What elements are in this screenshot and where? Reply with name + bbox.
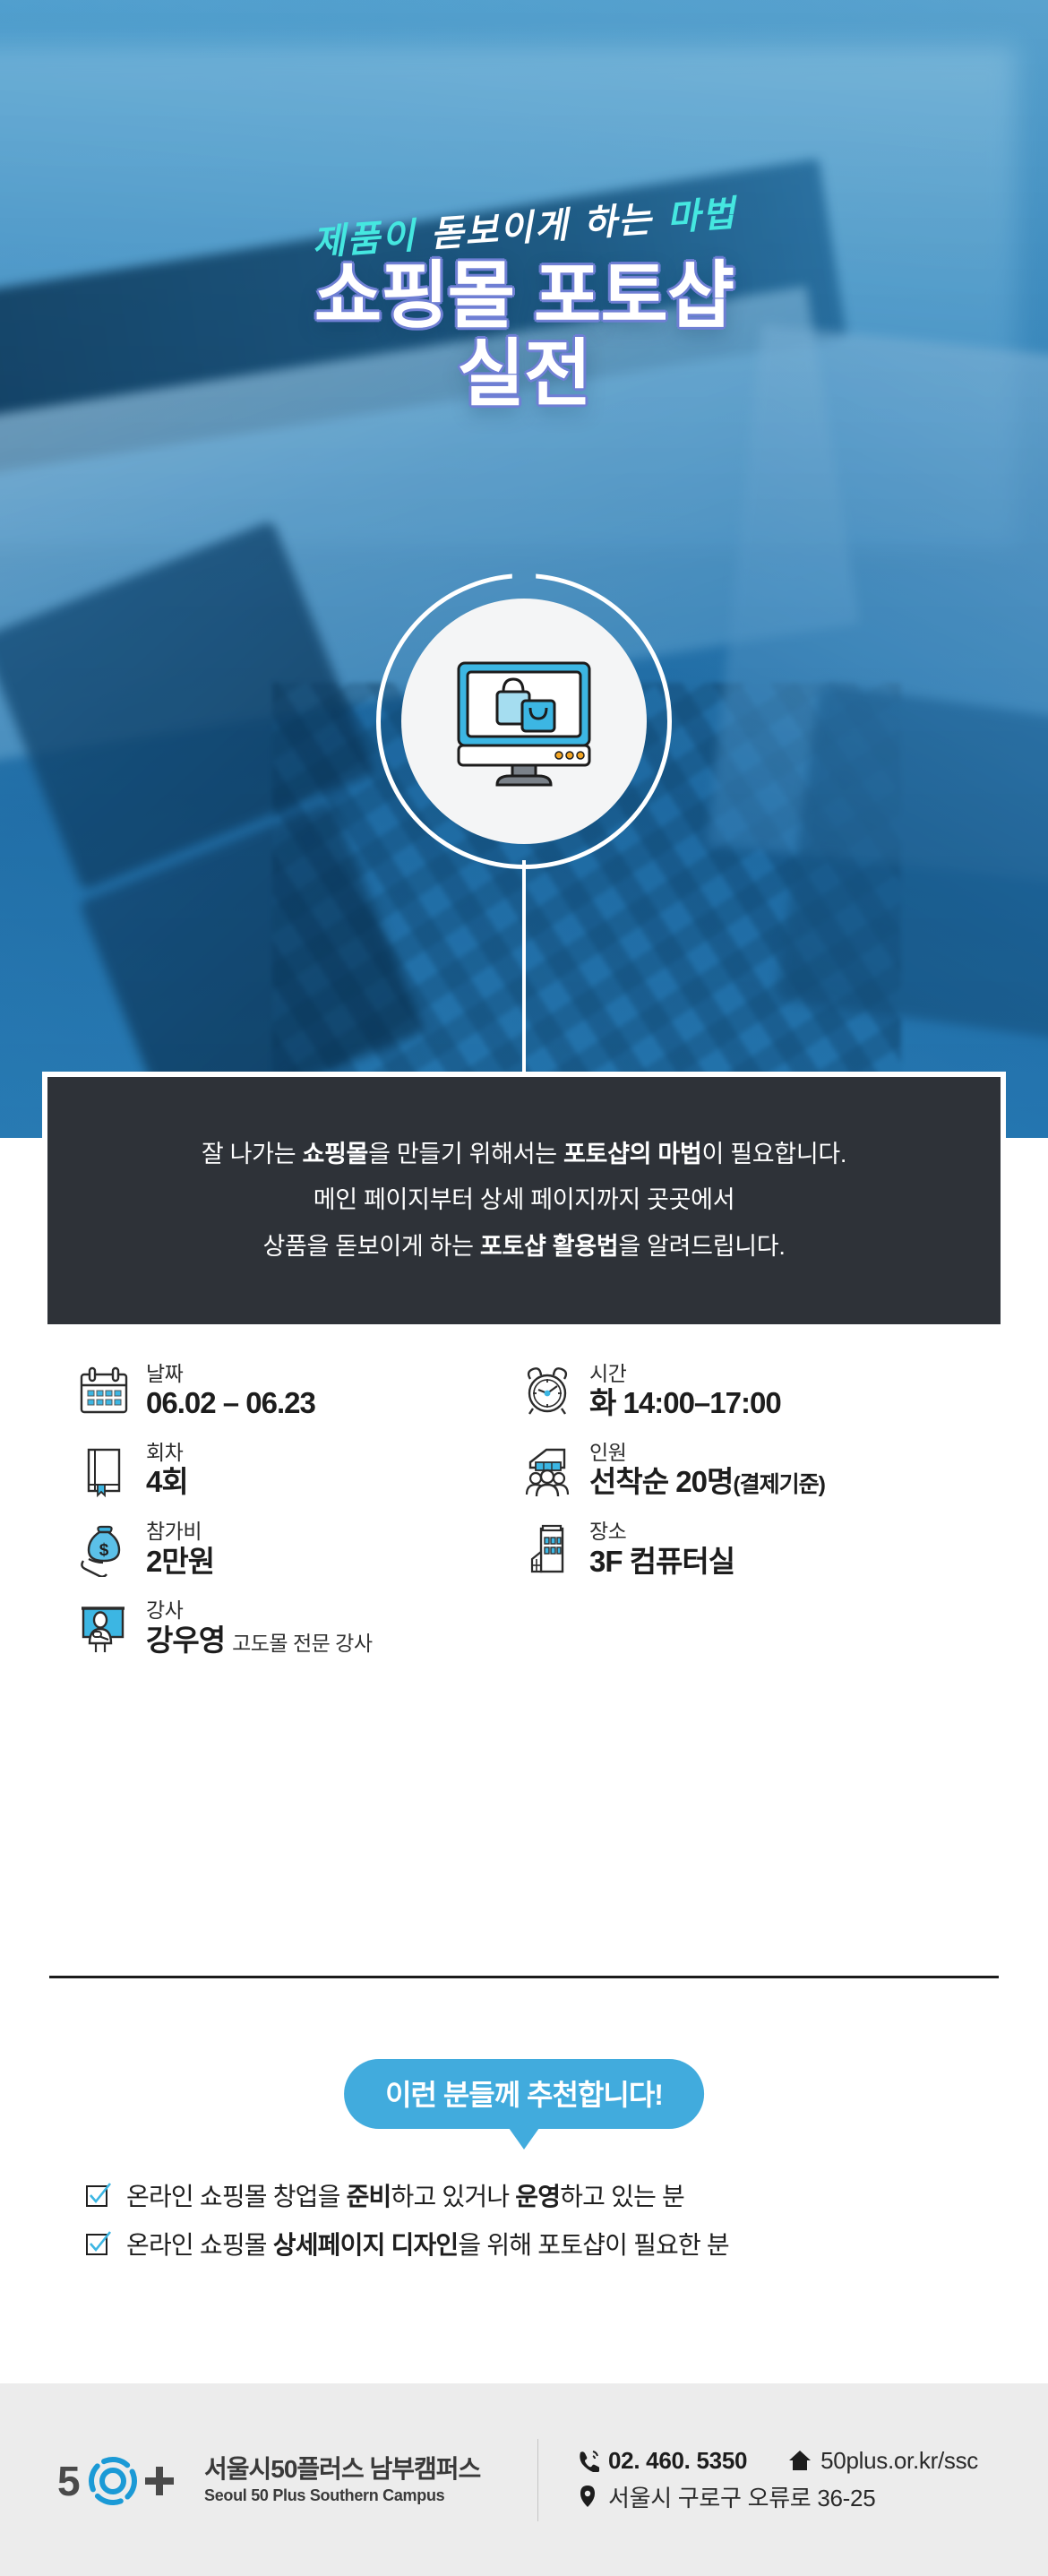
- info-text-sessions: 회차 4회: [146, 1441, 188, 1500]
- list-item: 온라인 쇼핑몰 창업을 준비하고 있거나 운영하고 있는 분: [0, 2177, 1048, 2213]
- book-icon: [76, 1443, 132, 1498]
- campus-name-ko: 서울시50플러스 남부캠퍼스: [204, 2454, 480, 2485]
- list-item-text-2: 온라인 쇼핑몰 상세페이지 디자인을 위해 포토샵이 필요한 분: [126, 2226, 729, 2262]
- desc1-bold-1: 쇼핑몰: [302, 1141, 368, 1167]
- info-text-time: 시간 화 14:00–17:00: [589, 1362, 781, 1421]
- hero-icon-badge: [376, 573, 672, 869]
- footer-logo-block: 5 서울시50플러스 남부캠퍼스 Seoul 50 Plus Southern …: [0, 2449, 537, 2511]
- instructor-name: 강우영: [146, 1624, 225, 1657]
- tagline-part-3: 마법: [666, 193, 738, 238]
- calendar-icon: [76, 1364, 132, 1419]
- campus-name-block: 서울시50플러스 남부캠퍼스 Seoul 50 Plus Southern Ca…: [204, 2454, 480, 2506]
- info-item-time: 시간 화 14:00–17:00: [502, 1362, 1003, 1421]
- info-item-location: 장소 3F 컴퓨터실: [502, 1520, 1003, 1579]
- contact-phone[interactable]: 02. 460. 5350: [608, 2447, 747, 2475]
- info-label-location: 장소: [589, 1520, 734, 1543]
- contact-website[interactable]: 50plus.or.kr/ssc: [820, 2447, 978, 2475]
- info-item-date: 날짜 06.02 – 06.23: [0, 1362, 502, 1421]
- contact-row-primary: 02. 460. 5350 50plus.or.kr/ssc: [576, 2447, 978, 2475]
- info-label-fee: 참가비: [146, 1520, 214, 1543]
- capacity-main: 선착순 20명: [589, 1465, 733, 1498]
- info-item-fee: $ 참가비 2만원: [0, 1520, 502, 1579]
- contact-address: 서울시 구로구 오류로 36-25: [608, 2480, 875, 2513]
- desc3-bold: 포토샵 활용법: [480, 1233, 618, 1260]
- item2-a: 온라인 쇼핑몰: [126, 2231, 273, 2259]
- hero-section: 제품이 돋보이게 하는 마법 쇼핑몰 포토샵 실전: [0, 0, 1048, 1138]
- info-value-fee: 2만원: [146, 1544, 214, 1580]
- money-bag-icon: $: [76, 1521, 132, 1577]
- item1-d: 하고 있는 분: [560, 2183, 684, 2210]
- phone-icon: [576, 2449, 599, 2472]
- description-line-1: 잘 나가는 쇼핑몰을 만들기 위해서는 포토샵의 마법이 필요합니다.: [202, 1132, 846, 1177]
- section-divider: [49, 1976, 999, 1978]
- desc1-c: 을 만들기 위해서는: [368, 1141, 563, 1167]
- desc3-c: 을 알려드립니다.: [618, 1233, 785, 1260]
- svg-text:5: 5: [57, 2458, 81, 2504]
- teacher-icon: [76, 1600, 132, 1656]
- checkbox-checked-icon: [85, 2182, 112, 2209]
- info-value-instructor: 강우영고도몰 전문 강사: [146, 1623, 373, 1658]
- info-text-location: 장소 3F 컴퓨터실: [589, 1520, 734, 1579]
- item2-c: 을 위해 포토샵이 필요한 분: [458, 2231, 728, 2259]
- instructor-title: 고도몰 전문 강사: [232, 1632, 372, 1655]
- recommend-list: 온라인 쇼핑몰 창업을 준비하고 있거나 운영하고 있는 분 온라인 쇼핑몰 상…: [0, 2177, 1048, 2274]
- footer: 5 서울시50플러스 남부캠퍼스 Seoul 50 Plus Southern …: [0, 2383, 1048, 2576]
- info-value-date: 06.02 – 06.23: [146, 1385, 315, 1421]
- item1-c: 하고 있거나: [391, 2183, 516, 2210]
- description-line-3: 상품을 돋보이게 하는 포토샵 활용법을 알려드립니다.: [262, 1224, 785, 1270]
- info-label-capacity: 인원: [589, 1441, 825, 1464]
- info-row-1: 날짜 06.02 – 06.23 시간 화: [0, 1362, 1048, 1421]
- info-label-time: 시간: [589, 1362, 781, 1385]
- info-row-2: 회차 4회 인원 선착순 20명(결제기준): [0, 1441, 1048, 1500]
- desc3-a: 상품을 돋보이게 하는: [262, 1233, 479, 1260]
- monitor-shopping-bag-icon: [448, 654, 600, 788]
- info-item-capacity: 인원 선착순 20명(결제기준): [502, 1441, 1003, 1500]
- footer-contact-block: 02. 460. 5350 50plus.or.kr/ssc 서울시 구로구 오…: [538, 2447, 978, 2513]
- info-text-capacity: 인원 선착순 20명(결제기준): [589, 1441, 825, 1500]
- course-info-grid: 날짜 06.02 – 06.23 시간 화: [0, 1362, 1048, 1677]
- checkbox-checked-icon: [85, 2230, 112, 2257]
- building-icon: [520, 1521, 575, 1577]
- info-value-time: 화 14:00–17:00: [589, 1385, 781, 1421]
- description-line-2: 메인 페이지부터 상세 페이지까지 곳곳에서: [314, 1177, 735, 1223]
- page-title: 쇼핑몰 포토샵 실전: [0, 258, 1048, 414]
- info-text-date: 날짜 06.02 – 06.23: [146, 1362, 315, 1421]
- info-value-capacity: 선착순 20명(결제기준): [589, 1464, 825, 1500]
- desc1-a: 잘 나가는: [202, 1141, 303, 1167]
- info-value-location: 3F 컴퓨터실: [589, 1544, 734, 1580]
- info-item-instructor: 강사 강우영고도몰 전문 강사: [0, 1598, 502, 1658]
- svg-text:$: $: [99, 1541, 109, 1560]
- info-text-instructor: 강사 강우영고도몰 전문 강사: [146, 1598, 373, 1658]
- item1-a: 온라인 쇼핑몰 창업을: [126, 2183, 347, 2210]
- info-value-sessions: 4회: [146, 1464, 188, 1500]
- info-row-3: $ 참가비 2만원: [0, 1520, 1048, 1579]
- info-row-4: 강사 강우영고도몰 전문 강사: [0, 1598, 1048, 1658]
- bubble-tail: [509, 2128, 539, 2150]
- item1-b1: 준비: [347, 2183, 391, 2210]
- title-line-2: 실전: [0, 336, 1048, 414]
- description-box: 잘 나가는 쇼핑몰을 만들기 위해서는 포토샵의 마법이 필요합니다. 메인 페…: [42, 1072, 1006, 1330]
- capacity-note: (결제기준): [733, 1472, 825, 1497]
- audience-icon: [520, 1443, 575, 1498]
- info-item-sessions: 회차 4회: [0, 1441, 502, 1500]
- contact-row-address: 서울시 구로구 오류로 36-25: [576, 2480, 978, 2513]
- info-label-date: 날짜: [146, 1362, 315, 1385]
- map-pin-icon: [576, 2485, 599, 2508]
- list-item-text-1: 온라인 쇼핑몰 창업을 준비하고 있거나 운영하고 있는 분: [126, 2177, 684, 2213]
- recommend-bubble: 이런 분들께 추천합니다!: [344, 2059, 704, 2129]
- info-text-fee: 참가비 2만원: [146, 1520, 214, 1579]
- info-label-sessions: 회차: [146, 1441, 188, 1464]
- item1-b2: 운영: [515, 2183, 560, 2210]
- home-icon: [788, 2449, 812, 2472]
- info-label-instructor: 강사: [146, 1598, 373, 1622]
- title-line-1: 쇼핑몰 포토샵: [0, 258, 1048, 336]
- list-item: 온라인 쇼핑몰 상세페이지 디자인을 위해 포토샵이 필요한 분: [0, 2226, 1048, 2262]
- desc1-e: 이 필요합니다.: [701, 1141, 846, 1167]
- badge-connector-line: [522, 860, 526, 1080]
- campus-name-en: Seoul 50 Plus Southern Campus: [204, 2486, 480, 2505]
- alarm-clock-icon: [520, 1364, 575, 1419]
- fifty-plus-logo-icon: 5: [56, 2449, 188, 2511]
- item2-b1: 상세페이지 디자인: [273, 2231, 459, 2259]
- badge-inner-circle: [401, 599, 647, 844]
- desc1-bold-2: 포토샵의 마법: [563, 1141, 701, 1167]
